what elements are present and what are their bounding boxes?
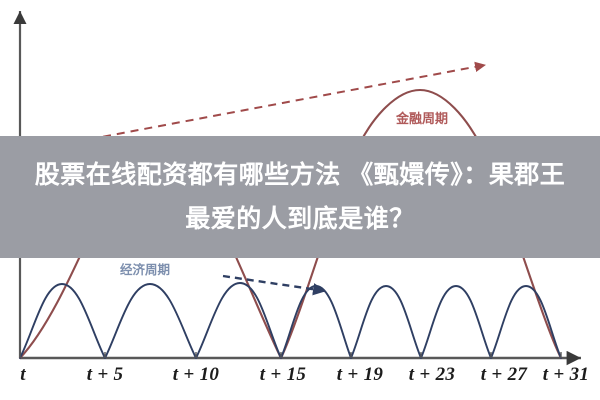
- x-tick-label-2: t + 10: [173, 364, 219, 386]
- x-tick-label-7: t + 31: [543, 364, 589, 386]
- x-tick-label-4: t + 19: [337, 364, 383, 386]
- economic-cycle-curve: [20, 283, 561, 358]
- overlay-text-line-2: 最爱的人到底是谁？: [185, 197, 415, 241]
- series-label-economic-cycle: 经济周期: [120, 259, 170, 278]
- x-tick-label-0: t: [20, 364, 26, 386]
- x-tick-label-1: t + 5: [87, 364, 124, 386]
- overlay-text-line-1: 股票在线配资都有哪些方法 《甄嬛传》：果郡王: [35, 153, 565, 197]
- overlay-text-banner: 股票在线配资都有哪些方法 《甄嬛传》：果郡王 最爱的人到底是谁？: [0, 136, 600, 258]
- financial-trend-arrow: [48, 65, 485, 147]
- series-label-financial-cycle: 金融周期: [396, 108, 448, 127]
- x-tick-label-6: t + 27: [481, 364, 527, 386]
- x-tick-label-5: t + 23: [409, 364, 455, 386]
- x-tick-label-3: t + 15: [260, 364, 306, 386]
- chart-canvas: 金融周期 经济周期 t t + 5 t + 10 t + 15 t + 19 t…: [0, 0, 600, 400]
